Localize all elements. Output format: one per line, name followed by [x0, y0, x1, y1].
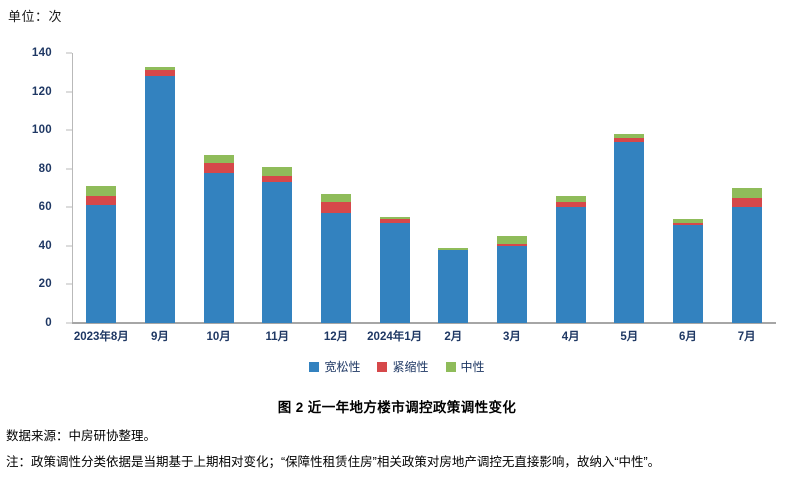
x-axis-label: 7月 — [717, 328, 776, 344]
bar-group — [732, 188, 762, 323]
y-tick-label: 140 — [32, 47, 52, 59]
x-axis-label: 6月 — [659, 328, 718, 344]
y-tick-label: 40 — [39, 240, 52, 252]
bar-segment — [86, 205, 116, 323]
bar-segment — [204, 155, 234, 163]
bar-segment — [614, 142, 644, 323]
bar-segment — [556, 207, 586, 323]
bar-group — [614, 134, 644, 323]
legend-item[interactable]: 中性 — [446, 358, 485, 375]
x-axis-label: 2024年1月 — [365, 328, 424, 344]
x-axis-label: 2023年8月 — [72, 328, 131, 344]
x-axis-label: 3月 — [483, 328, 542, 344]
bar-segment — [262, 182, 292, 323]
legend-item[interactable]: 紧缩性 — [377, 358, 428, 375]
square-swatch-red — [377, 362, 387, 372]
bar-segment — [321, 202, 351, 214]
x-axis-label: 9月 — [131, 328, 190, 344]
legend-item[interactable]: 宽松性 — [309, 358, 360, 375]
y-tick-label: 80 — [39, 163, 52, 175]
bar-group — [673, 219, 703, 323]
bar-group — [204, 155, 234, 323]
bar-segment — [497, 246, 527, 323]
bar-segment — [673, 225, 703, 323]
legend-label: 宽松性 — [324, 358, 360, 375]
bar-group — [556, 196, 586, 323]
bar-group — [145, 67, 175, 323]
figure-page: 单位：次 020406080100120140 2023年8月9月10月11月1… — [0, 0, 794, 497]
bar-segment — [380, 223, 410, 323]
bar-segment — [86, 186, 116, 196]
bar-segment — [732, 207, 762, 323]
bar-segment — [321, 194, 351, 202]
y-tick-label: 100 — [32, 124, 52, 136]
bar-group — [380, 217, 410, 323]
x-axis-label: 10月 — [189, 328, 248, 344]
legend-label: 紧缩性 — [392, 358, 428, 375]
x-axis-label: 2月 — [424, 328, 483, 344]
x-axis-label: 11月 — [248, 328, 307, 344]
square-swatch-blue — [309, 362, 319, 372]
bar-segment — [204, 173, 234, 323]
figure-caption: 图 2 近一年地方楼市调控政策调性变化 — [0, 396, 794, 416]
x-axis-labels: 2023年8月9月10月11月12月2024年1月2月3月4月5月6月7月 — [72, 326, 776, 348]
x-axis-label: 12月 — [307, 328, 366, 344]
bar-segment — [86, 196, 116, 206]
bar-segment — [497, 236, 527, 244]
chart-legend: 宽松性紧缩性中性 — [0, 358, 794, 375]
x-axis-label: 5月 — [600, 328, 659, 344]
y-tick-label: 60 — [39, 201, 52, 213]
bar-group — [262, 167, 292, 323]
unit-label: 单位：次 — [8, 6, 62, 25]
bar-segment — [732, 188, 762, 198]
data-source-line: 数据来源：中房研协整理。 — [6, 425, 156, 444]
bar-group — [321, 194, 351, 323]
bar-group — [438, 248, 468, 323]
y-tick-label: 0 — [45, 317, 52, 329]
square-swatch-green — [446, 362, 456, 372]
bar-segment — [204, 163, 234, 173]
bar-group — [497, 236, 527, 323]
bar-group — [86, 186, 116, 323]
figure-note: 注：政策调性分类依据是当期基于上期相对变化；“保障性租赁住房”相关政策对房地产调… — [6, 451, 788, 473]
y-tick-label: 20 — [39, 278, 52, 290]
legend-label: 中性 — [461, 358, 485, 375]
bar-segment — [732, 198, 762, 208]
bar-segment — [145, 76, 175, 323]
bar-series-container — [72, 53, 776, 323]
y-tick-label: 120 — [32, 86, 52, 98]
bar-segment — [321, 213, 351, 323]
bar-segment — [438, 250, 468, 323]
x-axis-label: 4月 — [541, 328, 600, 344]
bar-segment — [262, 167, 292, 177]
chart-area: 020406080100120140 2023年8月9月10月11月12月202… — [0, 40, 794, 385]
